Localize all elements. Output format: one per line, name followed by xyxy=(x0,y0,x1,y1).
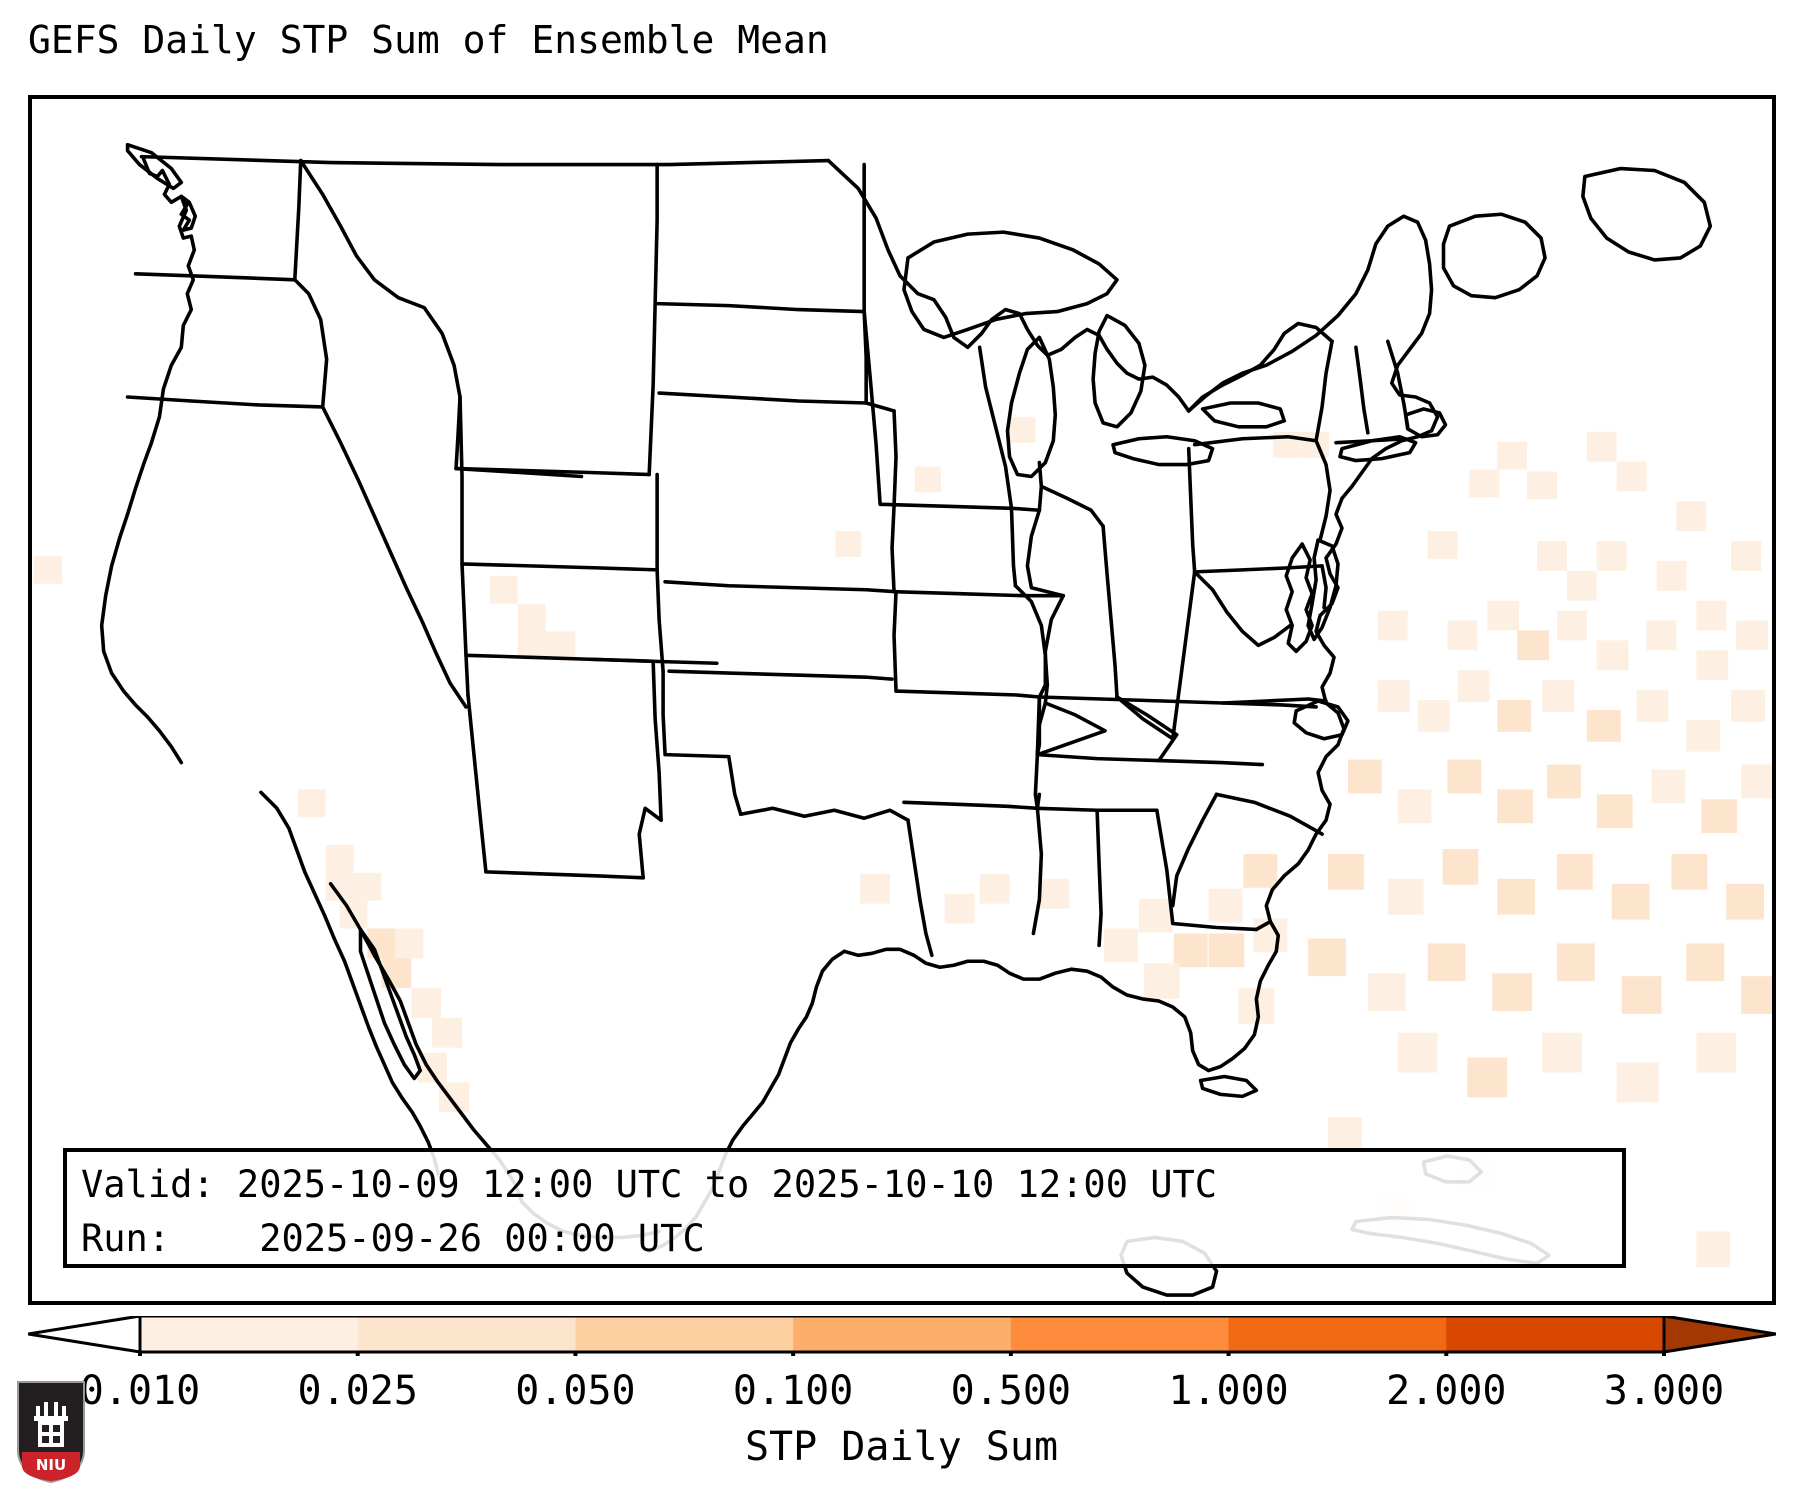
border-great-lakes-region xyxy=(828,161,1188,411)
stp-grid-cell xyxy=(1457,670,1489,702)
stp-grid-cell xyxy=(1388,879,1424,915)
coast-pacific-northwest xyxy=(102,159,195,763)
colorbar-segment xyxy=(1011,1316,1229,1352)
stp-grid-cell xyxy=(1104,928,1138,962)
stp-grid-cell xyxy=(1368,973,1406,1011)
colorbar-segment xyxy=(140,1316,358,1352)
stp-grid-cell xyxy=(1671,854,1707,890)
stp-grid-cell xyxy=(1469,470,1499,498)
stp-grid-cell xyxy=(1209,933,1245,967)
border-nm-tx-south xyxy=(486,872,643,878)
border-or-ca-nv xyxy=(128,397,323,407)
stp-grid-cell xyxy=(354,873,382,901)
vancouver-island xyxy=(128,145,182,189)
stp-grid-cell xyxy=(548,631,576,659)
stp-grid-cell xyxy=(1378,611,1408,641)
page-title: GEFS Daily STP Sum of Ensemble Mean xyxy=(28,18,829,62)
stp-grid-cell xyxy=(1039,879,1069,909)
colorbar-segment xyxy=(358,1316,576,1352)
stp-grid-cell xyxy=(1139,899,1173,933)
stp-grid-cell xyxy=(1731,690,1765,722)
stp-grid-cell xyxy=(1617,1063,1659,1103)
stp-grid-cell xyxy=(518,631,548,659)
metadata-box: Valid: 2025-10-09 12:00 UTC to 2025-10-1… xyxy=(63,1148,1626,1268)
lake-superior xyxy=(904,232,1117,337)
stp-grid-cell xyxy=(1348,760,1382,794)
stp-grid-cell xyxy=(1736,621,1768,651)
puget-sound-detail xyxy=(181,196,195,230)
stp-grid-cell xyxy=(1144,963,1180,999)
colorbar-over-arrow xyxy=(1664,1316,1776,1352)
stp-grid-cell xyxy=(1243,854,1277,888)
colorbar-under-arrow xyxy=(28,1316,140,1352)
colorbar-segment xyxy=(575,1316,793,1352)
colorbar-segment xyxy=(793,1316,1011,1352)
border-ne-ks xyxy=(665,582,896,592)
stp-grid-cell xyxy=(1542,1033,1582,1073)
stp-grid-cell xyxy=(945,894,975,924)
stp-grid-cell xyxy=(1447,621,1477,651)
stp-grid-cell xyxy=(1497,442,1527,470)
border-wy-co-ne xyxy=(462,564,657,570)
border-tx-nm-elpaso xyxy=(639,808,661,878)
geography-layer xyxy=(102,145,1711,1295)
stp-grid-cell xyxy=(1209,889,1243,923)
stp-grid-cell xyxy=(1398,789,1432,823)
border-mi-lake-huron xyxy=(1041,486,1103,526)
stp-grid-cell xyxy=(490,576,518,604)
stp-grid-cell xyxy=(1537,541,1567,571)
border-ny-vt-nh xyxy=(1316,341,1332,440)
border-ut-nv xyxy=(460,397,468,695)
border-ks-ok xyxy=(669,671,892,679)
stp-grid-cell xyxy=(1418,700,1450,732)
valid-time-line: Valid: 2025-10-09 12:00 UTC to 2025-10-1… xyxy=(81,1158,1608,1212)
stp-grid-cell xyxy=(1378,680,1410,712)
border-az-nm xyxy=(468,695,486,872)
colorbar xyxy=(28,1316,1776,1356)
stp-grid-cell xyxy=(915,467,941,493)
colorbar-tick-labels: 0.0100.0250.0500.1000.5001.0002.0003.000 xyxy=(0,1368,1803,1420)
logo-banner-text: NIU xyxy=(36,1456,66,1474)
border-mo-ks-river xyxy=(894,592,896,691)
map-panel xyxy=(28,95,1776,1305)
stp-grid-cell xyxy=(1612,884,1650,920)
border-wa-id xyxy=(295,161,301,280)
stp-grid-cell xyxy=(1527,472,1557,500)
stp-grid-cell xyxy=(1447,760,1481,794)
stp-grid-cell xyxy=(1686,943,1724,981)
border-or-id xyxy=(295,280,327,407)
colorbar-tick-label: 0.100 xyxy=(733,1368,853,1414)
stp-grid-cell xyxy=(860,874,890,904)
stp-grid-cell xyxy=(1731,541,1761,571)
florida-keys xyxy=(1201,1076,1257,1096)
stp-grid-cell xyxy=(1617,462,1647,492)
border-oh-wv xyxy=(1117,572,1195,739)
border-oh-pa-wv xyxy=(1189,449,1195,572)
stp-grid-cell xyxy=(34,556,62,584)
stp-grid-cell xyxy=(298,789,326,817)
colorbar-canvas xyxy=(28,1316,1776,1356)
map-canvas xyxy=(32,99,1772,1301)
colorbar-tick-label: 0.050 xyxy=(515,1368,635,1414)
stp-grid-cell xyxy=(1741,976,1772,1014)
stp-grid-cell xyxy=(1301,432,1329,458)
border-pa-md xyxy=(1195,566,1322,572)
stp-grid-cell xyxy=(1557,943,1595,981)
stp-grid-cell xyxy=(835,531,861,557)
stp-grid-cell xyxy=(1497,789,1533,823)
stp-grid-cell xyxy=(1174,933,1208,967)
stp-grid-cell xyxy=(1622,976,1662,1014)
colorbar-tick-label: 0.025 xyxy=(297,1368,417,1414)
border-nd-sd xyxy=(657,304,864,312)
stp-grid-cell xyxy=(1428,943,1466,981)
stp-grid-cell xyxy=(1696,601,1726,631)
stp-grid-cell xyxy=(1701,799,1737,833)
border-la-ms xyxy=(1033,808,1041,933)
border-wv-va xyxy=(1195,572,1291,646)
border-ia-mo xyxy=(894,592,1063,596)
stp-grid-cell xyxy=(411,988,441,1018)
border-in-oh xyxy=(1103,526,1117,697)
stp-grid-cell xyxy=(1328,1117,1362,1151)
border-nm-east xyxy=(653,661,661,820)
lake-huron xyxy=(1093,316,1145,427)
stp-grid-cell xyxy=(1647,621,1677,651)
border-wi-il xyxy=(1011,508,1015,585)
run-time-line: Run: 2025-09-26 00:00 UTC xyxy=(81,1212,1608,1266)
border-mo-ar xyxy=(896,691,1039,697)
border-ar-la xyxy=(904,802,1037,808)
stp-grid-cell xyxy=(1398,1033,1438,1073)
stp-grid-cell xyxy=(1587,432,1617,462)
stp-grid-cell xyxy=(1741,765,1772,799)
stp-grid-cell xyxy=(432,1018,462,1048)
colorbar-segment xyxy=(1229,1316,1447,1352)
stp-grid-cell xyxy=(1637,690,1669,722)
stp-grid-cell xyxy=(1676,501,1706,531)
stp-grid-cell xyxy=(1657,561,1687,591)
stp-grid-cell xyxy=(1557,854,1593,890)
stp-grid-cell xyxy=(1587,710,1621,742)
chesapeake-bay xyxy=(1286,544,1312,651)
stp-grid-cell xyxy=(1428,531,1458,559)
colorbar-tick-label: 2.000 xyxy=(1386,1368,1506,1414)
stp-grid-cell xyxy=(1542,680,1574,712)
stp-grid-cell xyxy=(1308,938,1346,976)
colorbar-segments xyxy=(140,1316,1665,1352)
stp-grid-cell xyxy=(1696,650,1728,680)
stp-grid-cell xyxy=(1652,770,1686,804)
colorbar-axis-label: STP Daily Sum xyxy=(0,1424,1803,1470)
border-la-ar-east xyxy=(1037,794,1039,808)
border-in-ky xyxy=(1037,703,1105,755)
lake-erie xyxy=(1113,437,1213,465)
colorbar-tick-label: 3.000 xyxy=(1604,1368,1724,1414)
border-id-mt xyxy=(301,161,460,469)
stp-grid-cell xyxy=(1597,640,1629,670)
niu-logo: NIU xyxy=(14,1378,88,1486)
nova-scotia xyxy=(1444,214,1546,297)
stp-grid-cell xyxy=(1487,601,1519,631)
lake-michigan xyxy=(1008,337,1056,476)
coast-mid-atlantic xyxy=(1308,498,1344,850)
colorbar-segment xyxy=(1446,1316,1664,1352)
stp-grid-cell xyxy=(1467,1058,1507,1098)
stp-grid-cell xyxy=(980,874,1010,904)
stp-grid-cell xyxy=(1686,720,1720,752)
border-us-canada-west xyxy=(141,157,828,165)
border-sd-ne xyxy=(659,393,894,411)
border-ms-al xyxy=(1097,810,1101,945)
border-vt-nh xyxy=(1356,347,1368,432)
border-tx-la xyxy=(908,820,932,955)
border-mt-nd xyxy=(649,165,657,475)
stp-grid-cell xyxy=(1696,1033,1736,1073)
colorbar-tick-label: 0.500 xyxy=(951,1368,1071,1414)
stp-grid-cell xyxy=(1443,849,1479,885)
border-va-nc xyxy=(1223,699,1327,703)
border-il-in xyxy=(1015,586,1047,703)
stp-grid-cell xyxy=(326,845,354,873)
colorbar-tick-label: 0.010 xyxy=(80,1368,200,1414)
stp-grid-cell xyxy=(1696,1231,1730,1267)
border-nc-sc xyxy=(1217,794,1323,834)
border-co-ks-ok xyxy=(657,570,663,671)
lake-ontario xyxy=(1203,403,1285,427)
border-ny-canada xyxy=(1189,324,1332,411)
stp-grid-cell xyxy=(1497,879,1535,915)
border-ky-tn xyxy=(1037,755,1262,765)
stp-grid-cell xyxy=(1547,765,1581,799)
stp-grid-cell xyxy=(1557,611,1587,641)
stp-grid-cell xyxy=(518,604,546,632)
stp-grid-cell xyxy=(1567,571,1597,601)
border-ok-tx-panhandle xyxy=(663,671,741,814)
newfoundland-edge xyxy=(1583,169,1710,260)
colorbar-tick-label: 1.000 xyxy=(1168,1368,1288,1414)
stp-grid-cell xyxy=(395,928,423,958)
border-nv-ca xyxy=(323,407,466,707)
stp-grid-cell xyxy=(1597,794,1633,828)
border-md-de xyxy=(1322,566,1326,608)
border-ia-il-river xyxy=(1027,510,1063,595)
stp-grid-cell xyxy=(1517,630,1549,660)
stp-grid-cell xyxy=(1726,884,1764,920)
stp-grid-cell xyxy=(1328,854,1364,890)
border-ne-ia-river xyxy=(892,411,896,592)
border-tx-ok-redriver xyxy=(741,808,908,820)
stp-grid-cell xyxy=(1010,417,1036,443)
border-ar-ok-west xyxy=(1035,697,1039,808)
border-sd-mn-ia xyxy=(864,312,866,403)
border-wa-or xyxy=(136,274,295,280)
stp-grid-cell xyxy=(1597,541,1627,571)
stp-grid-cell xyxy=(1492,973,1532,1011)
stp-grid-cell xyxy=(1497,700,1531,732)
